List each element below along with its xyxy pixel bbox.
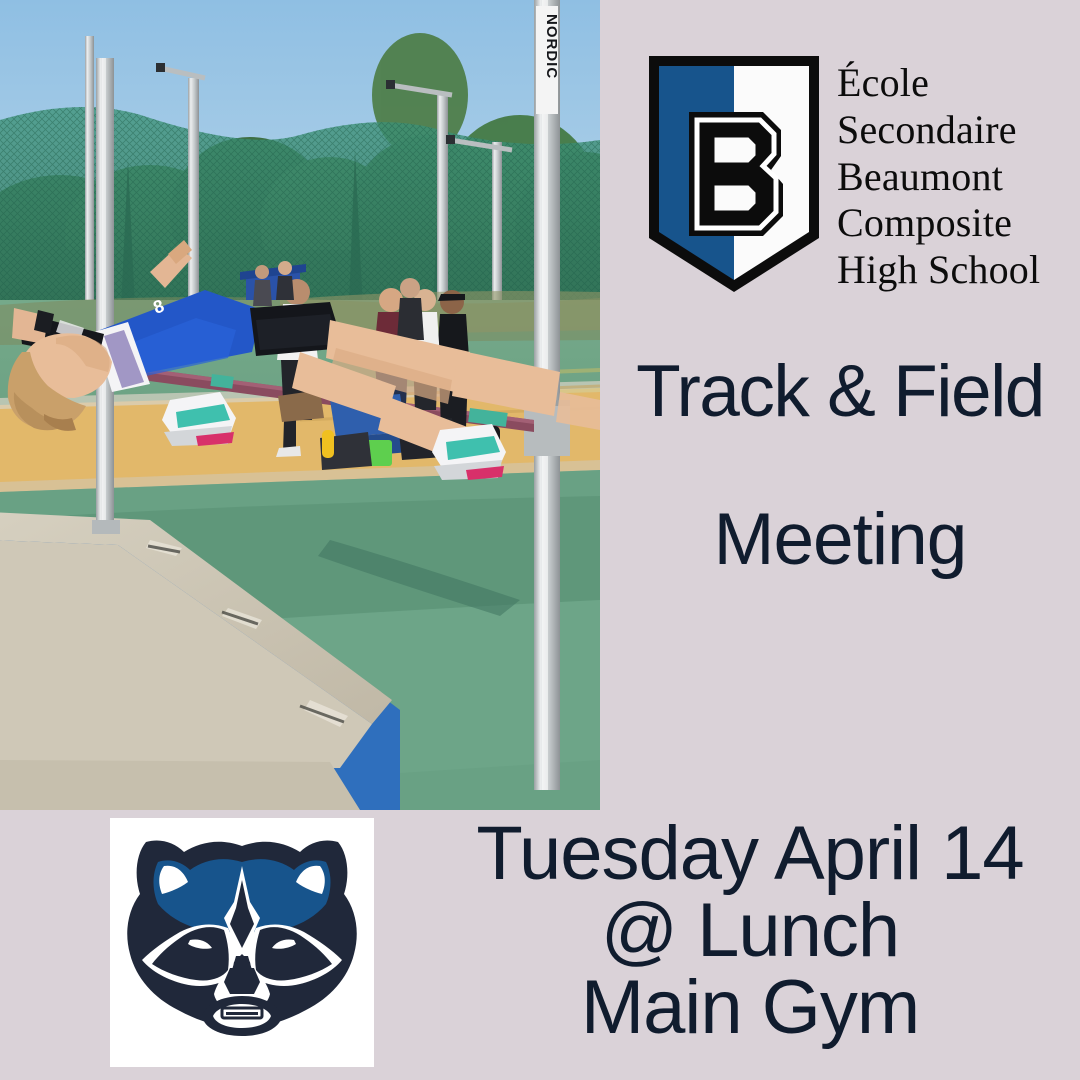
wordmark-line-5: High School xyxy=(837,247,1040,294)
track-meet-photo: NORDIC REBELS xyxy=(0,0,600,810)
svg-text:NORDIC: NORDIC xyxy=(543,14,560,79)
wordmark-line-2: Secondaire xyxy=(837,107,1040,154)
school-logo: École Secondaire Beaumont Composite High… xyxy=(645,52,1065,300)
shield-crest-icon xyxy=(645,52,823,296)
event-headline: Track & Field Meeting xyxy=(600,355,1080,576)
headline-line-2: Meeting xyxy=(600,503,1080,576)
wordmark-line-3: Beaumont xyxy=(837,154,1040,201)
wordmark-line-4: Composite xyxy=(837,200,1040,247)
wordmark-line-1: École xyxy=(837,60,1040,107)
raccoon-mascot-icon xyxy=(124,836,360,1050)
event-location: Main Gym xyxy=(420,972,1080,1045)
event-details: Tuesday April 14 @ Lunch Main Gym xyxy=(420,818,1080,1045)
poster-root: NORDIC REBELS xyxy=(0,0,1080,1080)
mascot-tile xyxy=(110,818,374,1067)
headline-line-1: Track & Field xyxy=(600,355,1080,428)
school-wordmark: École Secondaire Beaumont Composite High… xyxy=(837,52,1040,294)
event-time: @ Lunch xyxy=(420,895,1080,968)
event-date: Tuesday April 14 xyxy=(420,818,1080,891)
